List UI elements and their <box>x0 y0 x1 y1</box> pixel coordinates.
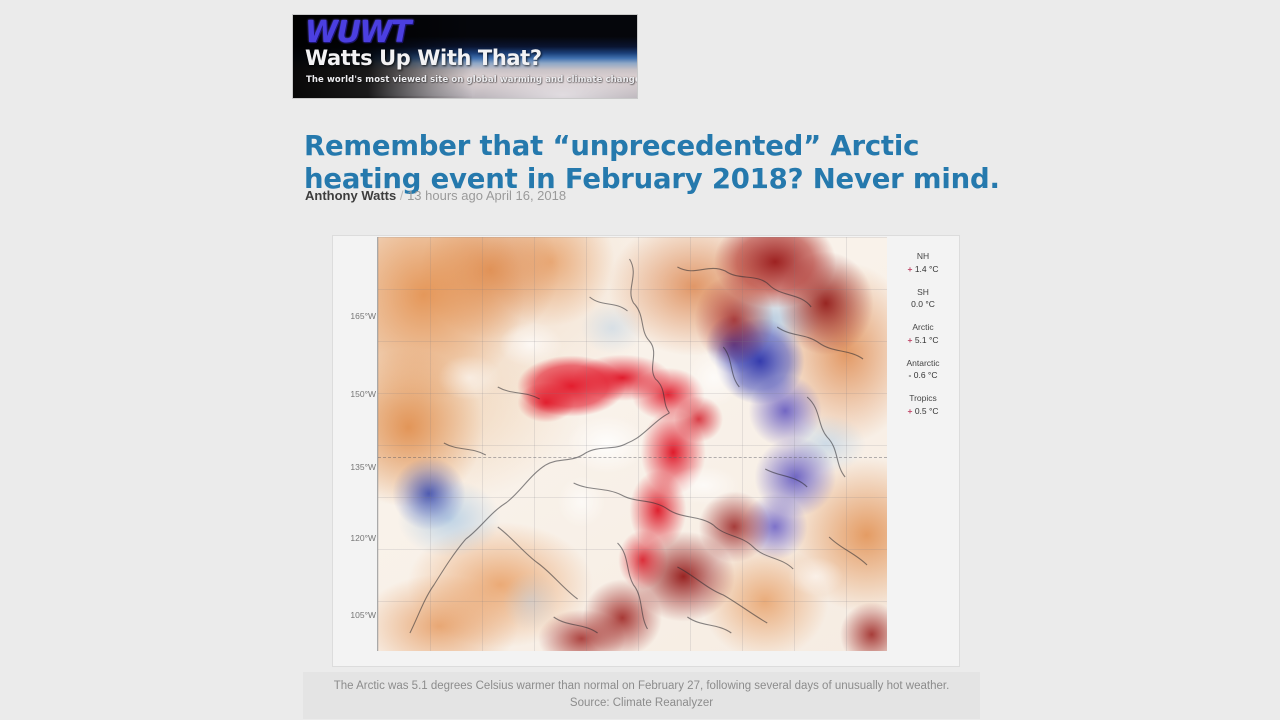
axis-tick-120w: 120°W <box>350 533 376 543</box>
stat-block-antarctic: Antarctic - 0.6 °C <box>889 357 957 383</box>
temperature-anomaly-map[interactable] <box>377 237 887 651</box>
figure-caption: The Arctic was 5.1 degrees Celsius warme… <box>303 672 980 719</box>
stat-block-arctic: Arctic + 5.1 °C <box>889 321 957 347</box>
screenshot-root: WUWT Watts Up With That? The world's mos… <box>0 0 1280 720</box>
stat-value-tropics: + 0.5 °C <box>889 405 957 418</box>
stat-value-antarctic: - 0.6 °C <box>889 369 957 382</box>
byline-separator: / <box>396 188 407 203</box>
stat-value-sh: 0.0 °C <box>889 298 957 311</box>
stat-sign-tropics: + <box>907 406 912 416</box>
stat-number-tropics: 0.5 °C <box>915 406 939 416</box>
wuwt-logo: WUWT <box>305 18 410 48</box>
site-title: Watts Up With That? <box>305 47 542 69</box>
stat-block-nh: NH + 1.4 °C <box>889 250 957 276</box>
axis-tick-150w: 150°W <box>350 389 376 399</box>
article-headline[interactable]: Remember that “unprecedented” Arctic hea… <box>304 130 1004 195</box>
longitude-axis: 165°W 150°W 135°W 120°W 105°W <box>333 236 378 666</box>
map-dashed-reference-line <box>378 457 887 458</box>
stat-value-arctic: + 5.1 °C <box>889 334 957 347</box>
stat-sign-antarctic: - <box>909 370 912 380</box>
site-tagline: The world's most viewed site on global w… <box>306 75 638 85</box>
stat-sign-nh: + <box>907 264 912 274</box>
article-byline: Anthony Watts / 13 hours ago April 16, 2… <box>305 188 566 203</box>
stat-number-antarctic: 0.6 °C <box>914 370 938 380</box>
stat-value-nh: + 1.4 °C <box>889 263 957 276</box>
site-banner[interactable]: WUWT Watts Up With That? The world's mos… <box>292 14 638 99</box>
axis-tick-105w: 105°W <box>350 610 376 620</box>
caption-line-2: Source: Climate Reanalyzer <box>570 697 713 709</box>
stat-block-tropics: Tropics + 0.5 °C <box>889 392 957 418</box>
stat-label-arctic: Arctic <box>889 321 957 334</box>
regional-anomaly-stats-panel: NH + 1.4 °C SH 0.0 °C Arctic + 5.1 °C An… <box>889 250 957 428</box>
stat-label-tropics: Tropics <box>889 392 957 405</box>
stat-label-antarctic: Antarctic <box>889 357 957 370</box>
axis-tick-135w: 135°W <box>350 462 376 472</box>
stat-number-arctic: 5.1 °C <box>915 335 939 345</box>
stat-number-nh: 1.4 °C <box>915 264 939 274</box>
article-author[interactable]: Anthony Watts <box>305 188 396 203</box>
stat-number-sh: 0.0 °C <box>911 299 935 309</box>
stat-sign-arctic: + <box>907 335 912 345</box>
stat-block-sh: SH 0.0 °C <box>889 286 957 312</box>
climate-map-figure: 165°W 150°W 135°W 120°W 105°W <box>332 235 960 667</box>
caption-line-1: The Arctic was 5.1 degrees Celsius warme… <box>334 680 950 692</box>
article-timestamp: 13 hours ago April 16, 2018 <box>407 188 566 203</box>
stat-label-sh: SH <box>889 286 957 299</box>
axis-tick-165w: 165°W <box>350 311 376 321</box>
map-coastline-overlay <box>378 237 887 651</box>
stat-label-nh: NH <box>889 250 957 263</box>
